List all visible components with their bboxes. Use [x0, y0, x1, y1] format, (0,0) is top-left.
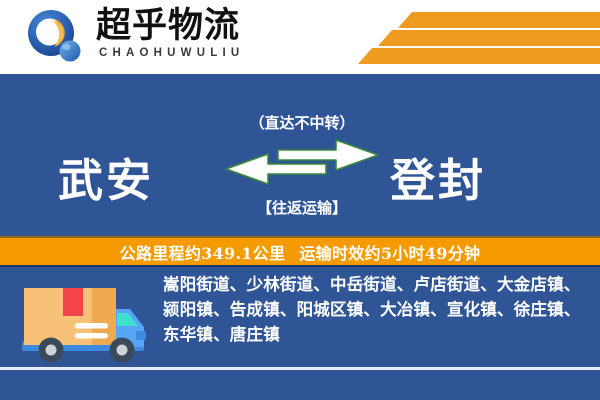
round-trip-note: 【往返运输】: [218, 197, 386, 218]
speed-stripes-icon: [340, 8, 600, 68]
logistics-route-banner: 超乎物流 CHAOHUWULIU 武安 （直达不中转）: [0, 0, 600, 400]
route-connector: （直达不中转） 【往返运输】: [218, 108, 386, 236]
route-row: 武安 （直达不中转） 【往返运输】 登封: [0, 108, 600, 236]
delivery-truck-icon: [18, 279, 150, 367]
brand-name-cn: 超乎物流: [96, 7, 240, 45]
coverage-area-list: 嵩阳街道、少林街道、中岳街道、卢店街道、大金店镇、颍阳镇、告成镇、阳城区镇、大冶…: [163, 272, 587, 347]
bidirectional-arrow-icon: [218, 136, 386, 190]
destination-city: 登封: [390, 144, 486, 209]
origin-city: 武安: [58, 144, 154, 209]
trip-info-bar: 公路里程约349.1公里运输时效约5小时49分钟: [0, 236, 600, 267]
distance-text: 公路里程约349.1公里: [120, 244, 286, 263]
coverage-area-text: 嵩阳街道、少林街道、中岳街道、卢店街道、大金店镇、颍阳镇、告成镇、阳城区镇、大冶…: [163, 272, 587, 347]
trip-info-text: 公路里程约349.1公里运输时效约5小时49分钟: [120, 240, 481, 264]
direct-route-note: （直达不中转）: [218, 112, 386, 133]
brand-header: 超乎物流 CHAOHUWULIU: [0, 0, 600, 74]
ground-divider: [0, 367, 600, 370]
duration-text: 运输时效约5小时49分钟: [299, 244, 480, 263]
route-panel: 武安 （直达不中转） 【往返运输】 登封: [0, 74, 600, 400]
brand-name-en: CHAOHUWULIU: [99, 47, 244, 59]
chaohu-q-logo-icon: [24, 8, 86, 66]
